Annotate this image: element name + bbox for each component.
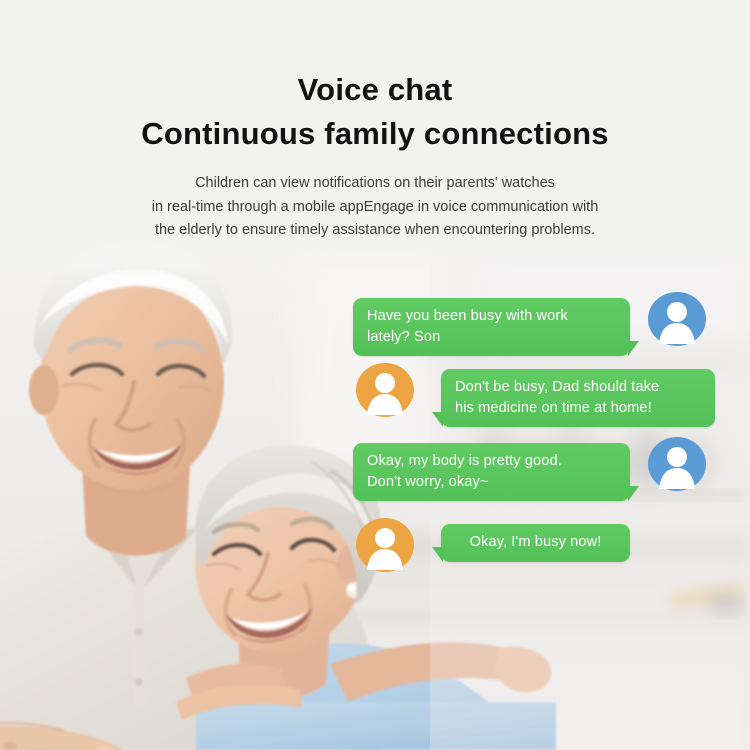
chat-bubble-4-line-1: Okay, I'm busy now! — [470, 532, 602, 553]
page-description: Children can view notifications on their… — [0, 172, 750, 242]
chat-bubble-3-line-2: Don't worry, okay~ — [367, 472, 616, 493]
description-line-3: the elderly to ensure timely assistance … — [0, 219, 750, 242]
chat-bubble-3[interactable]: Okay, my body is pretty good. Don't worr… — [353, 443, 630, 501]
chat-message-1: Have you been busy with work lately? Son — [353, 298, 630, 356]
chat-bubble-1[interactable]: Have you been busy with work lately? Son — [353, 298, 630, 356]
chat-bubble-2-line-2: his medicine on time at home! — [455, 398, 701, 419]
description-line-2: in real-time through a mobile appEngage … — [0, 196, 750, 219]
person-icon — [648, 437, 706, 491]
chat-bubble-1-line-1: Have you been busy with work — [367, 306, 616, 327]
person-icon — [648, 292, 706, 346]
chat-message-4: Okay, I'm busy now! — [441, 524, 630, 562]
person-icon — [356, 518, 414, 572]
avatar-blue-1[interactable] — [648, 292, 706, 346]
page-title-line-1: Voice chat — [0, 74, 750, 107]
header-block: Voice chat Continuous family connections… — [0, 0, 750, 243]
avatar-blue-2[interactable] — [648, 437, 706, 491]
page-title-line-2: Continuous family connections — [0, 118, 750, 151]
chat-bubble-2-line-1: Don't be busy, Dad should take — [455, 377, 701, 398]
description-line-1: Children can view notifications on their… — [0, 172, 750, 195]
avatar-orange-2[interactable] — [356, 518, 414, 572]
chat-bubble-3-line-1: Okay, my body is pretty good. — [367, 451, 616, 472]
avatar-orange-1[interactable] — [356, 363, 414, 417]
chat-bubble-2[interactable]: Don't be busy, Dad should take his medic… — [441, 369, 715, 427]
chat-bubble-4[interactable]: Okay, I'm busy now! — [441, 524, 630, 562]
promo-page: Voice chat Continuous family connections… — [0, 0, 750, 750]
chat-message-2: Don't be busy, Dad should take his medic… — [441, 369, 715, 427]
person-icon — [356, 363, 414, 417]
chat-message-3: Okay, my body is pretty good. Don't worr… — [353, 443, 630, 501]
chat-bubble-1-line-2: lately? Son — [367, 327, 616, 348]
